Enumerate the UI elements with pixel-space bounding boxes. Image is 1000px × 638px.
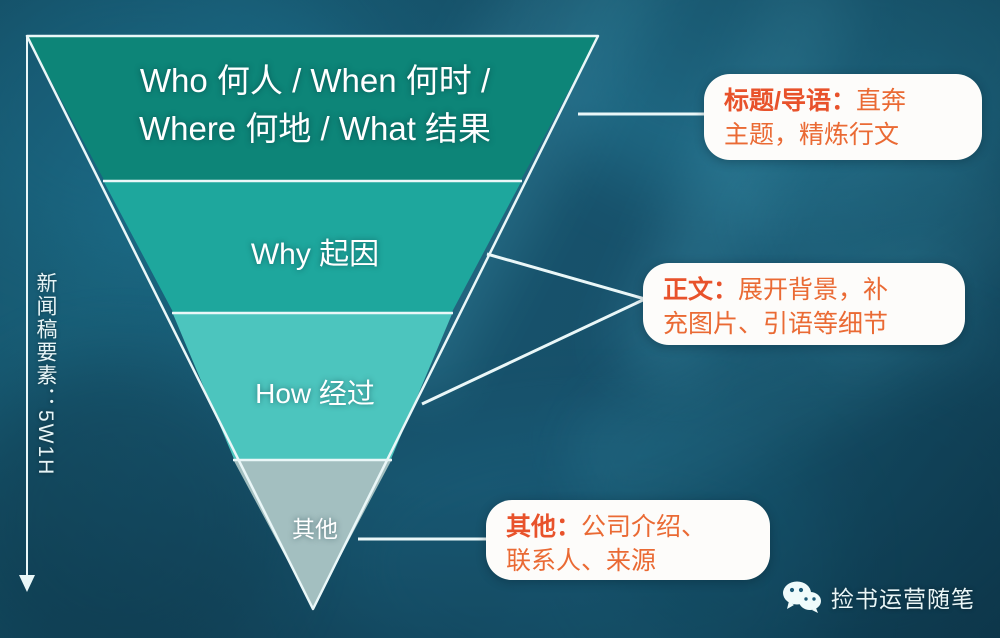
- callout-other-line1: 公司介绍、: [581, 513, 706, 541]
- callout-headline-title: 标题/导语：: [724, 87, 856, 115]
- funnel-segment-how: [173, 314, 452, 459]
- callout-body-line2: 充图片、引语等细节: [663, 310, 888, 338]
- funnel-segment-top: [27, 36, 598, 180]
- watermark-text: 捡书运营随笔: [831, 580, 975, 614]
- funnel-segment-why-shape: [104, 182, 521, 312]
- callout-headline: 标题/导语：直奔 主题，精炼行文: [704, 74, 982, 160]
- callout-headline-body2: 主题，精炼行文: [724, 121, 899, 149]
- connector-line-body-upper: [487, 254, 645, 299]
- connector-line-body-lower: [422, 299, 645, 404]
- callout-headline-body1: 直奔: [856, 87, 906, 115]
- funnel-segment-other: [234, 461, 391, 608]
- diagram-canvas: 新闻稿要素：5W1H Who 何人 / When 何时 / Where 何地 /…: [0, 0, 1000, 638]
- callout-body-title: 正文：: [663, 276, 738, 304]
- callout-other: 其他：公司介绍、 联系人、来源: [486, 500, 770, 580]
- watermark: 捡书运营随笔: [782, 580, 975, 614]
- callout-other-line2: 联系人、来源: [506, 547, 656, 575]
- callout-body: 正文：展开背景，补 充图片、引语等细节: [643, 263, 965, 345]
- callout-body-line1: 展开背景，补: [738, 276, 888, 304]
- wechat-icon: [782, 580, 822, 614]
- callout-other-title: 其他：: [506, 513, 581, 541]
